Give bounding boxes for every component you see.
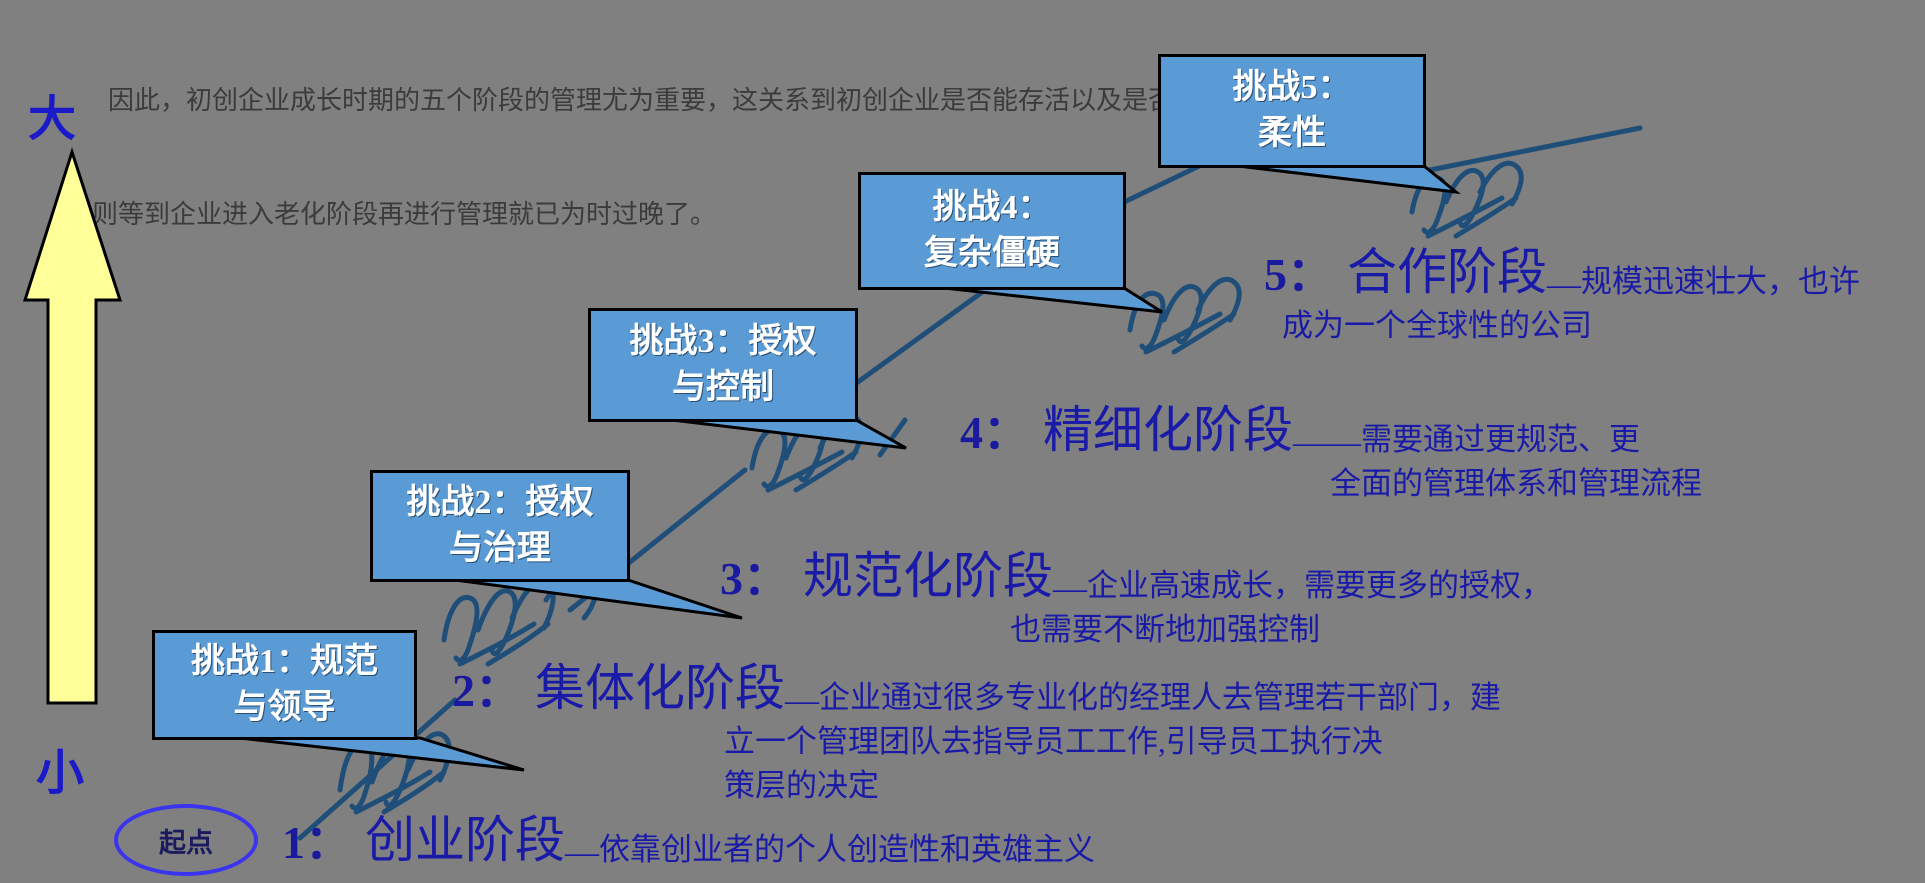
stage-3-number: 3：: [720, 542, 789, 608]
stage-4-title: 精细化阶段: [1043, 390, 1293, 462]
callout-5-line-1: 挑战5：: [1233, 65, 1352, 111]
origin-label: 起点: [118, 808, 254, 872]
stage-2-head: 2：集体化阶段—企业通过很多专业化的经理人去管理若干部门，建: [452, 648, 1501, 720]
squiggle-transition-3: [752, 416, 861, 490]
stage-3-title: 规范化阶段: [803, 536, 1053, 608]
callout-5-line-2: 柔性: [1258, 111, 1326, 157]
stage-2-desc-line-2: 立一个管理团队去指导员工工作,引导员工执行决: [724, 720, 1501, 764]
axis-label-small: 小: [36, 750, 84, 798]
stage-2-title: 集体化阶段: [535, 648, 785, 720]
callout-1-line-2: 与领导: [234, 685, 336, 731]
stage-3-desc-line-2: 也需要不断地加强控制: [1010, 608, 1552, 652]
stage-3-dash: —: [1053, 570, 1087, 608]
stage-1-dash: —: [565, 834, 599, 872]
stage-1-number: 1：: [282, 806, 351, 872]
callout-1-line-1: 挑战1：规范: [191, 639, 378, 685]
stage-label-2: 2：集体化阶段—企业通过很多专业化的经理人去管理若干部门，建 立一个管理团队去指…: [452, 648, 1501, 808]
stage-5-desc-line-1: 规模迅速壮大，也许: [1581, 260, 1860, 304]
stage-1-title: 创业阶段: [365, 800, 565, 872]
callout-box-challenge-2[interactable]: 挑战2：授权 与治理: [370, 470, 630, 582]
stage-5-dash: —: [1547, 266, 1581, 304]
origin-marker: 起点: [114, 804, 258, 876]
callout-2-line-1: 挑战2：授权: [407, 480, 594, 526]
stage-4-desc-line-1: 需要通过更规范、更: [1361, 418, 1640, 462]
stage-3-head: 3：规范化阶段—企业高速成长，需要更多的授权，: [720, 536, 1552, 608]
callout-tail-3: [672, 420, 906, 448]
callout-3-line-2: 与控制: [672, 365, 774, 411]
callout-3-line-1: 挑战3：授权: [630, 319, 817, 365]
stage-label-3: 3：规范化阶段—企业高速成长，需要更多的授权， 也需要不断地加强控制: [720, 536, 1552, 652]
stage-4-head: 4：精细化阶段——需要通过更规范、更: [960, 390, 1702, 462]
callout-box-challenge-3[interactable]: 挑战3：授权 与控制: [588, 308, 858, 422]
callout-4-line-2: 复杂僵硬: [924, 231, 1060, 277]
stage-4-desc-line-2: 全面的管理体系和管理流程: [1330, 462, 1702, 506]
stage-4-number: 4：: [960, 396, 1029, 462]
callout-box-challenge-4[interactable]: 挑战4： 复杂僵硬: [858, 172, 1126, 290]
stage-2-desc-line-1: 企业通过很多专业化的经理人去管理若干部门，建: [819, 676, 1501, 720]
stage-2-desc-line-3: 策层的决定: [724, 764, 1501, 808]
callout-box-challenge-1[interactable]: 挑战1：规范 与领导: [152, 630, 417, 740]
stage-2-number: 2：: [452, 654, 521, 720]
stage-4-dash: ——: [1293, 424, 1361, 462]
stage-5-desc-line-2: 成为一个全球性的公司: [1282, 304, 1860, 348]
stage-3-desc-line-1: 企业高速成长，需要更多的授权，: [1087, 564, 1552, 608]
callout-tail-2: [455, 580, 742, 618]
axis-label-large: 大: [28, 96, 76, 144]
stage-label-1: 1：创业阶段—依靠创业者的个人创造性和英雄主义: [282, 800, 1095, 872]
callout-box-challenge-5[interactable]: 挑战5： 柔性: [1158, 54, 1426, 168]
stage-1-head: 1：创业阶段—依靠创业者的个人创造性和英雄主义: [282, 800, 1095, 872]
stage-5-number: 5：: [1264, 238, 1333, 304]
stage-5-head: 5：合作阶段—规模迅速壮大，也许: [1264, 232, 1860, 304]
callout-4-line-1: 挑战4：: [933, 185, 1052, 231]
stage-2-dash: —: [785, 682, 819, 720]
stage-1-desc-line-1: 依靠创业者的个人创造性和英雄主义: [599, 828, 1095, 872]
intro-line-1: 因此，初创企业成长时期的五个阶段的管理尤为重要，这关系到初创企业是否能存活以及是…: [52, 82, 1862, 120]
stage-5-title: 合作阶段: [1347, 232, 1547, 304]
callout-2-line-2: 与治理: [449, 526, 551, 572]
stage-label-5: 5：合作阶段—规模迅速壮大，也许 成为一个全球性的公司: [1264, 232, 1860, 348]
stage-label-4: 4：精细化阶段——需要通过更规范、更 全面的管理体系和管理流程: [960, 390, 1702, 506]
diagram-canvas: 因此，初创企业成长时期的五个阶段的管理尤为重要，这关系到初创企业是否能存活以及是…: [0, 0, 1925, 883]
